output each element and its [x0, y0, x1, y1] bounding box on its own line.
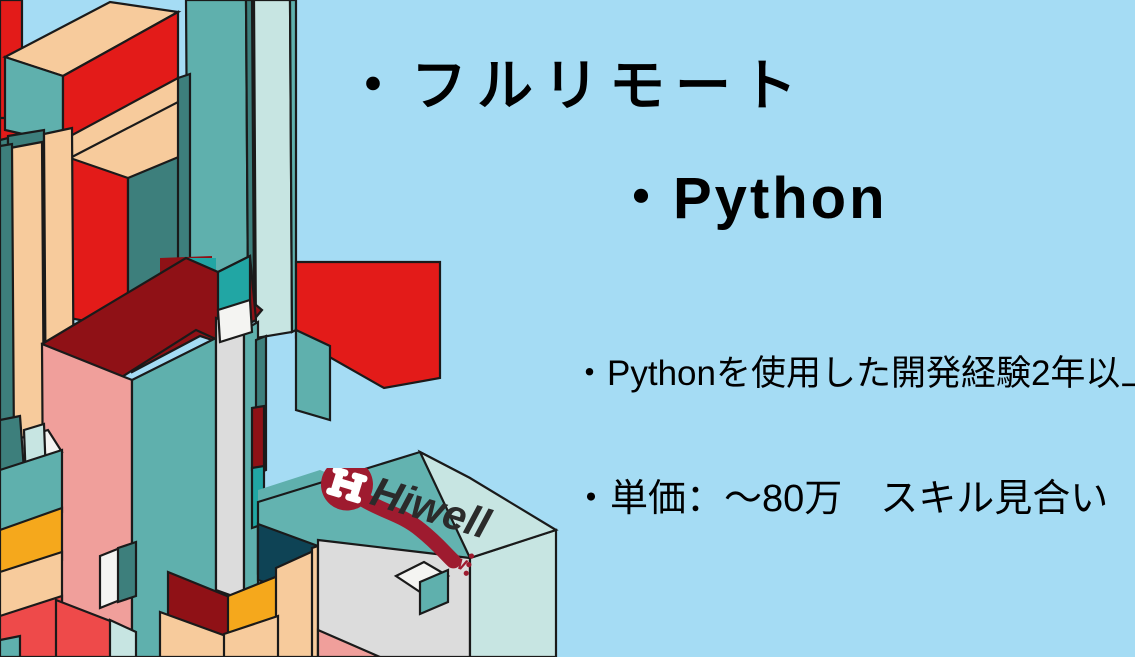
- shape-grey-tower: [216, 318, 244, 600]
- shape-bottomleft-teal: [0, 636, 20, 657]
- shape-tower-pale-front: [254, 0, 292, 338]
- hiwell-logo-svg[interactable]: Hiwell w: [300, 468, 500, 593]
- hiwell-logo[interactable]: Hiwell w: [300, 468, 500, 593]
- headline-python: ・Python: [612, 170, 888, 228]
- shape-col-darkteal-c: [0, 144, 14, 452]
- slide-canvas: Hiwell w ・フルリモート ・Python ・Pythonを使用した開発経…: [0, 0, 1135, 657]
- shape-red-roof-under: [296, 330, 330, 420]
- requirement-experience: ・Pythonを使用した開発経験2年以上: [572, 356, 1135, 391]
- shape-mid-darkteal: [118, 542, 136, 602]
- headline-full-remote: ・フルリモート: [345, 58, 807, 114]
- shape-sliver-red: [252, 406, 264, 470]
- shape-col-peach-a: [10, 142, 44, 446]
- requirement-rate: ・単価：〜80万 スキル見合い: [572, 480, 1108, 518]
